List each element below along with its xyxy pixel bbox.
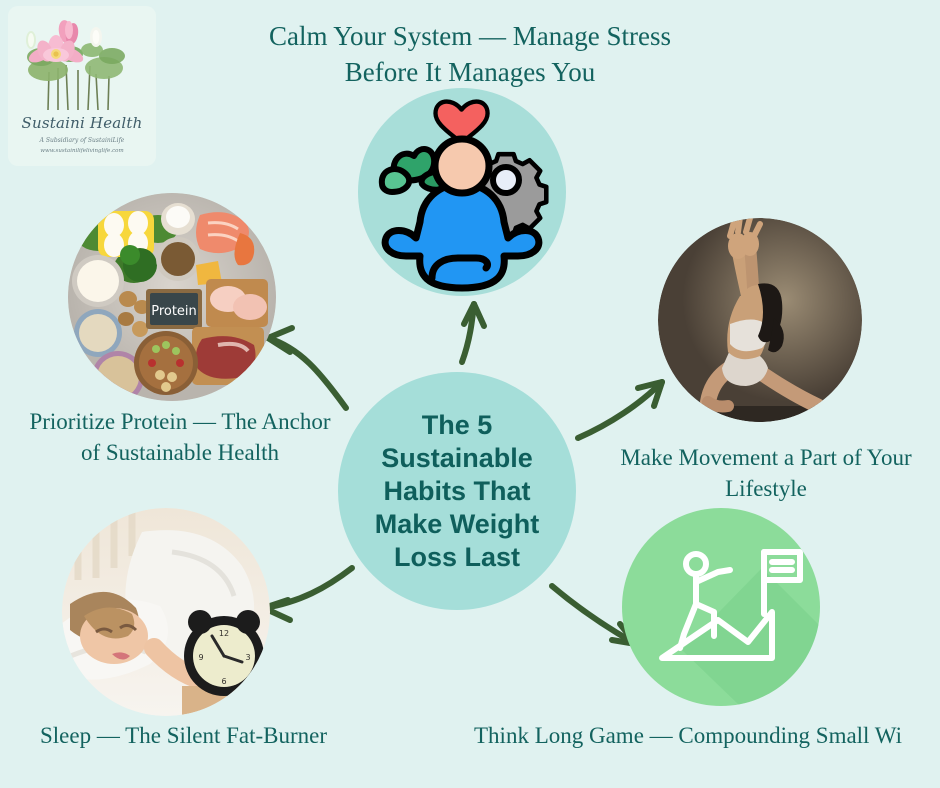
caption-long-game: Think Long Game — Compounding Small Wi — [474, 720, 940, 751]
logo-website: www.sustainilifelivinglife.com — [8, 148, 156, 154]
chalkboard-label: Protein — [151, 304, 197, 319]
svg-text:12: 12 — [219, 629, 229, 638]
arrow-to-stress — [462, 304, 474, 362]
long-game-icon-circle — [622, 508, 820, 706]
protein-photo: Protein — [68, 193, 276, 401]
page-title: Calm Your System — Manage Stress Before … — [250, 18, 690, 90]
arrow-to-protein — [268, 338, 346, 408]
caption-movement: Make Movement a Part of Your Lifestyle — [596, 442, 936, 504]
movement-photo — [658, 218, 862, 422]
climber-summit-flag-icon — [622, 508, 820, 706]
arrow-to-movement — [578, 382, 662, 438]
center-hub: The 5 Sustainable Habits That Make Weigh… — [338, 372, 576, 610]
svg-text:3: 3 — [245, 653, 250, 662]
person-head — [435, 139, 489, 193]
svg-text:6: 6 — [221, 677, 226, 686]
lotus-logo-icon — [8, 10, 156, 114]
brand-logo: Sustaini Health A Subsidiary of Sustaini… — [8, 6, 156, 166]
svg-text:9: 9 — [198, 653, 203, 662]
alarm-clock-icon: 123 69 — [184, 610, 264, 696]
caption-sleep: Sleep — The Silent Fat-Burner — [40, 720, 460, 751]
meditation-icon — [358, 88, 566, 296]
infographic-canvas: Sustaini Health A Subsidiary of Sustaini… — [0, 0, 940, 788]
arrow-to-sleep — [264, 568, 352, 608]
logo-brand-name: Sustaini Health — [8, 114, 156, 132]
center-title: The 5 Sustainable Habits That Make Weigh… — [359, 409, 556, 574]
stress-icon-circle — [358, 88, 566, 296]
sleep-photo: 123 69 — [62, 508, 270, 716]
caption-protein: Prioritize Protein — The Anchor of Susta… — [20, 406, 340, 468]
logo-subtitle: A Subsidiary of SustainiLife — [8, 137, 156, 144]
